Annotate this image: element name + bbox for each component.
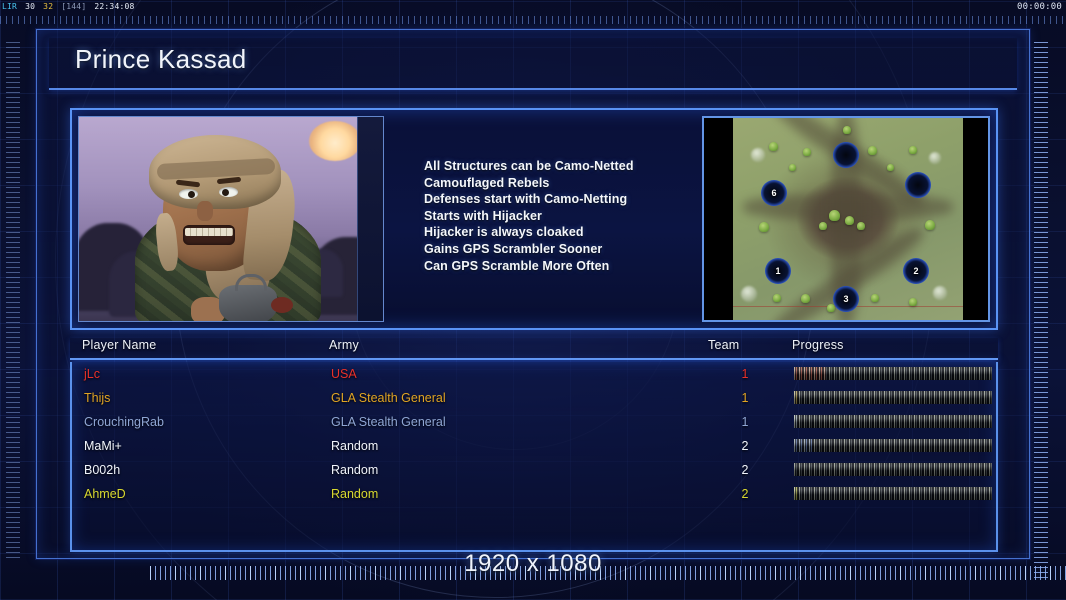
column-header-progress: Progress <box>792 338 844 352</box>
general-bonus-item: Gains GPS Scrambler Sooner <box>424 241 724 258</box>
player-name: MaMi+ <box>84 439 122 453</box>
map-rock <box>741 286 757 302</box>
general-bonus-item: Defenses start with Camo-Netting <box>424 191 724 208</box>
table-row[interactable]: ThijsGLA Stealth General1 <box>72 386 996 410</box>
fps-bracket: [144] <box>61 2 86 11</box>
general-bonus-list: All Structures can be Camo-NettedCamoufl… <box>424 158 724 274</box>
player-progress-bar <box>794 487 992 500</box>
player-progress-bar <box>794 367 992 380</box>
map-tree <box>803 148 811 156</box>
game-screen: LIR 30 32 [144] 22:34:08 00:00:00 Prince… <box>0 0 1066 600</box>
map-tree <box>871 294 879 302</box>
fps-value: 30 <box>25 2 35 11</box>
map-start-position[interactable]: 1 <box>765 258 791 284</box>
map-start-position[interactable]: 2 <box>903 258 929 284</box>
map-terrain: 6123 <box>733 118 963 320</box>
player-team: 2 <box>738 487 752 501</box>
map-tree <box>789 164 796 171</box>
general-bonus-item: Can GPS Scramble More Often <box>424 258 724 275</box>
session-time: 22:34:08 <box>94 2 134 11</box>
soldier-eye <box>219 187 238 197</box>
fps-alt: 32 <box>43 2 53 11</box>
player-army: Random <box>331 439 378 453</box>
player-team: 2 <box>738 463 752 477</box>
player-name: B002h <box>84 463 120 477</box>
soldier-eye <box>179 189 198 199</box>
map-preview[interactable]: 6123 <box>702 116 990 322</box>
map-tree <box>769 142 778 151</box>
sun-icon <box>309 121 361 161</box>
player-team: 1 <box>738 367 752 381</box>
ruler-left <box>6 38 20 558</box>
map-start-position[interactable]: 6 <box>761 180 787 206</box>
player-army: USA <box>331 367 357 381</box>
general-bonus-item: Starts with Hijacker <box>424 208 724 225</box>
fps-readout: LIR 30 32 [144] 22:34:08 <box>2 0 138 14</box>
player-team: 2 <box>738 439 752 453</box>
player-army: Random <box>331 487 378 501</box>
status-bar: LIR 30 32 [144] 22:34:08 00:00:00 <box>0 0 1066 14</box>
general-portrait <box>78 116 384 322</box>
general-bonus-item: Camouflaged Rebels <box>424 175 724 192</box>
map-tree <box>843 126 851 134</box>
fps-label: LIR <box>2 2 17 11</box>
clock-readout: 00:00:00 <box>1017 0 1062 14</box>
map-start-position[interactable] <box>905 172 931 198</box>
title-bar: Prince Kassad <box>49 38 1017 90</box>
player-name: CrouchingRab <box>84 415 164 429</box>
resolution-label: 1920 x 1080 <box>0 550 1066 578</box>
player-table: Player Name Army Team Progress jLcUSA1Th… <box>70 338 998 552</box>
map-tree <box>845 216 854 225</box>
map-tree <box>887 164 894 171</box>
map-start-position[interactable] <box>833 142 859 168</box>
player-progress-bar <box>794 463 992 476</box>
player-name: AhmeD <box>84 487 126 501</box>
player-army: GLA Stealth General <box>331 391 446 405</box>
portrait-side-bar <box>357 117 383 321</box>
player-progress-bar <box>794 439 992 452</box>
player-army: Random <box>331 463 378 477</box>
table-header: Player Name Army Team Progress <box>70 338 998 360</box>
map-tree <box>868 146 877 155</box>
player-team: 1 <box>738 391 752 405</box>
map-rock <box>933 286 947 300</box>
player-progress-bar <box>794 391 992 404</box>
map-tree <box>909 298 917 306</box>
map-tree <box>801 294 810 303</box>
ruler-right <box>1034 38 1048 578</box>
map-tree <box>925 220 935 230</box>
map-tree <box>857 222 865 230</box>
player-name: Thijs <box>84 391 110 405</box>
map-tree <box>819 222 827 230</box>
map-tree <box>759 222 769 232</box>
general-info-panel: All Structures can be Camo-NettedCamoufl… <box>70 108 998 330</box>
column-header-team: Team <box>708 338 739 352</box>
map-rock <box>929 152 941 164</box>
table-row[interactable]: B002hRandom2 <box>72 458 996 482</box>
table-row[interactable]: jLcUSA1 <box>72 362 996 386</box>
map-tree <box>773 294 781 302</box>
player-team: 1 <box>738 415 752 429</box>
table-row[interactable]: AhmeDRandom2 <box>72 482 996 506</box>
map-tree <box>909 146 917 154</box>
general-bonus-item: All Structures can be Camo-Netted <box>424 158 724 175</box>
table-row[interactable]: CrouchingRabGLA Stealth General1 <box>72 410 996 434</box>
teapot-prop <box>219 285 277 322</box>
table-body: jLcUSA1ThijsGLA Stealth General1Crouchin… <box>70 362 998 552</box>
page-title: Prince Kassad <box>75 44 247 75</box>
map-start-position[interactable]: 3 <box>833 286 859 312</box>
general-bonus-item: Hijacker is always cloaked <box>424 224 724 241</box>
map-rock <box>751 148 765 162</box>
table-row[interactable]: MaMi+Random2 <box>72 434 996 458</box>
column-header-player-name: Player Name <box>82 338 156 352</box>
player-progress-bar <box>794 415 992 428</box>
player-army: GLA Stealth General <box>331 415 446 429</box>
player-name: jLc <box>84 367 100 381</box>
soldier-headwrap <box>149 135 281 209</box>
soldier-mouth <box>183 225 235 245</box>
column-header-army: Army <box>329 338 359 352</box>
map-tree <box>829 210 840 221</box>
ruler-top <box>0 16 1066 24</box>
soldier-nose <box>197 201 213 221</box>
